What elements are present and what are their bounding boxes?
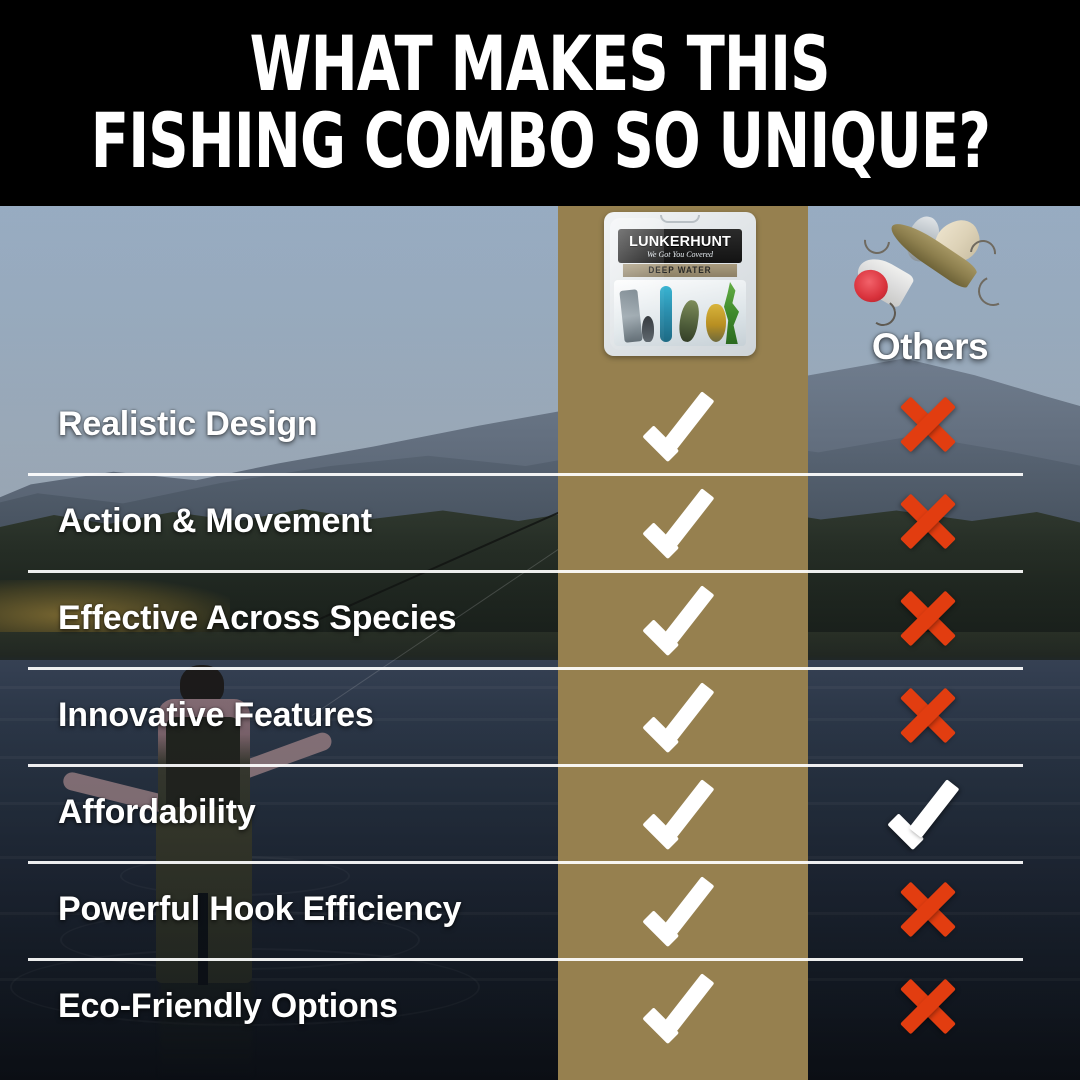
product-mark <box>623 376 743 473</box>
lure-tray <box>614 280 746 346</box>
check-icon <box>646 494 720 550</box>
others-mark <box>868 376 988 473</box>
others-mark <box>868 667 988 764</box>
header-line-2: FISHING COMBO SO UNIQUE? <box>90 105 989 178</box>
header-banner: WHAT MAKES THIS FISHING COMBO SO UNIQUE? <box>0 0 1080 206</box>
check-icon <box>646 591 720 647</box>
check-icon <box>646 397 720 453</box>
others-mark <box>868 861 988 958</box>
others-mark <box>868 570 988 667</box>
feature-label: Eco-Friendly Options <box>58 987 398 1026</box>
product-mark <box>623 861 743 958</box>
feature-label: Innovative Features <box>58 696 374 735</box>
table-row: Eco-Friendly Options <box>0 958 1080 1055</box>
minnow-lure <box>660 286 672 342</box>
product-package-image: LUNKERHUNT We Got You Covered DEEP WATER <box>604 212 756 356</box>
feature-label: Action & Movement <box>58 502 372 541</box>
package-hang-tab <box>660 215 700 223</box>
check-icon <box>646 688 720 744</box>
table-row: Innovative Features <box>0 667 1080 764</box>
product-mark <box>623 570 743 667</box>
feature-label: Effective Across Species <box>58 599 456 638</box>
comparison-table: Realistic Design Action & Movement Effec… <box>0 376 1080 1080</box>
package-subtitle: DEEP WATER <box>623 264 737 277</box>
feature-label: Affordability <box>58 793 256 832</box>
crankbait-lure <box>706 304 726 342</box>
others-mark <box>868 473 988 570</box>
spinnerbait-lure <box>619 289 642 343</box>
comparison-infographic: WHAT MAKES THIS FISHING COMBO SO UNIQUE?… <box>0 0 1080 1080</box>
others-mark <box>868 958 988 1055</box>
cross-icon <box>896 684 960 748</box>
table-row: Effective Across Species <box>0 570 1080 667</box>
feature-label: Powerful Hook Efficiency <box>58 890 461 929</box>
product-mark <box>623 473 743 570</box>
others-column-label: Others <box>808 326 1052 368</box>
table-row: Action & Movement <box>0 473 1080 570</box>
shad-lure <box>677 299 701 343</box>
table-row: Powerful Hook Efficiency <box>0 861 1080 958</box>
table-row: Realistic Design <box>0 376 1080 473</box>
header-line-1: WHAT MAKES THIS <box>250 28 830 101</box>
table-row: Affordability <box>0 764 1080 861</box>
product-mark <box>623 764 743 861</box>
cross-icon <box>896 975 960 1039</box>
brand-tagline: We Got You Covered <box>647 251 713 259</box>
column-headers: LUNKERHUNT We Got You Covered DEEP WATER <box>0 200 1080 376</box>
blade-lure <box>642 316 654 342</box>
check-icon <box>646 979 720 1035</box>
feature-label: Realistic Design <box>58 405 317 444</box>
cross-icon <box>896 393 960 457</box>
cross-icon <box>896 878 960 942</box>
check-icon <box>646 785 720 841</box>
brand-name: LUNKERHUNT <box>629 234 731 249</box>
package-brand-bar: LUNKERHUNT We Got You Covered <box>618 229 742 263</box>
check-icon <box>646 882 720 938</box>
cross-icon <box>896 587 960 651</box>
product-mark <box>623 667 743 764</box>
others-lures-image <box>850 212 1018 328</box>
check-icon <box>891 785 965 841</box>
cross-icon <box>896 490 960 554</box>
product-mark <box>623 958 743 1055</box>
others-mark <box>868 764 988 861</box>
